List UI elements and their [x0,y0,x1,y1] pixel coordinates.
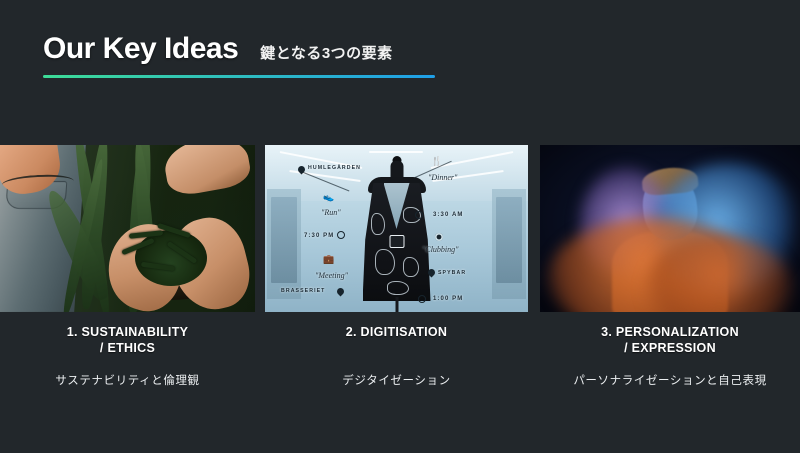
dress-print-motif [371,213,385,235]
overlay-label-dinner: "Dinner" [428,173,457,182]
caption-title-line2: / EXPRESSION [540,340,800,356]
overlay-label-330am: 3:30 AM [433,212,463,218]
showroom-door-right [496,197,522,283]
showroom-door-left [271,197,297,283]
caption-jp: サステナビリティと倫理観 [0,372,255,388]
overlay-label-clubbing: "Clubbing" [422,245,459,254]
title-row: Our Key Ideas 鍵となる3つの要素 [43,32,757,66]
dot-icon [435,233,443,241]
caption-title-line1: 2. DIGITISATION [265,324,528,340]
image-panel-personalization[interactable] [540,145,800,312]
ceiling-light [431,151,514,169]
fern-seedling [135,230,207,286]
overlay-label-run: "Run" [321,208,341,217]
caption-personalization: 3. PERSONALIZATION / EXPRESSION パーソナライゼー… [540,324,800,388]
caption-jp: パーソナライゼーションと自己表現 [540,372,800,388]
dress-print-motif [387,281,409,295]
fern-frond [141,262,175,272]
overlay-label-meeting: "Meeting" [315,271,348,280]
caption-jp: デジタイゼーション [265,372,528,388]
caption-title-line1: 1. SUSTAINABILITY [0,324,255,340]
dress-print-motif [403,257,419,277]
ceiling-light [369,151,423,153]
briefcase-icon: 💼 [323,255,334,264]
caption-digitisation: 2. DIGITISATION デジタイゼーション [265,324,528,388]
overlay-label-humlegarden: HUMLEGÅRDEN [308,165,361,171]
fern-frond [167,241,198,264]
slide-header: Our Key Ideas 鍵となる3つの要素 [43,32,757,78]
page-title: Our Key Ideas [43,32,238,66]
title-underline-rule [43,75,435,78]
caption-title-line2: / ETHICS [0,340,255,356]
image-panel-strip: HUMLEGÅRDEN 👟 "Run" 7:30 PM 💼 "Meeting" … [0,145,800,312]
overlay-label-730pm: 7:30 PM [304,233,334,239]
shoe-icon: 👟 [323,193,334,202]
ring-icon [418,295,426,303]
image-panel-sustainability[interactable] [0,145,255,312]
ring-icon [415,211,423,219]
ring-icon [337,231,345,239]
caption-title-line1: 3. PERSONALIZATION [540,324,800,340]
overlay-label-spybar: SPYBAR [438,270,466,276]
page-subtitle-jp: 鍵となる3つの要素 [260,42,392,65]
caption-row: 1. SUSTAINABILITY / ETHICS サステナビリティと倫理観 … [0,324,800,404]
caption-sustainability: 1. SUSTAINABILITY / ETHICS サステナビリティと倫理観 [0,324,255,388]
dress-belt-buckle [389,235,404,248]
image-panel-digitisation[interactable]: HUMLEGÅRDEN 👟 "Run" 7:30 PM 💼 "Meeting" … [265,145,528,312]
overlay-label-brasseriet: BRASSERIET [281,288,325,294]
black-dress [363,183,431,301]
dress-print-motif [375,249,395,275]
mannequin [355,161,439,309]
mannequin-stand [395,297,398,312]
overlay-label-100pm: 1:00 PM [433,296,463,302]
